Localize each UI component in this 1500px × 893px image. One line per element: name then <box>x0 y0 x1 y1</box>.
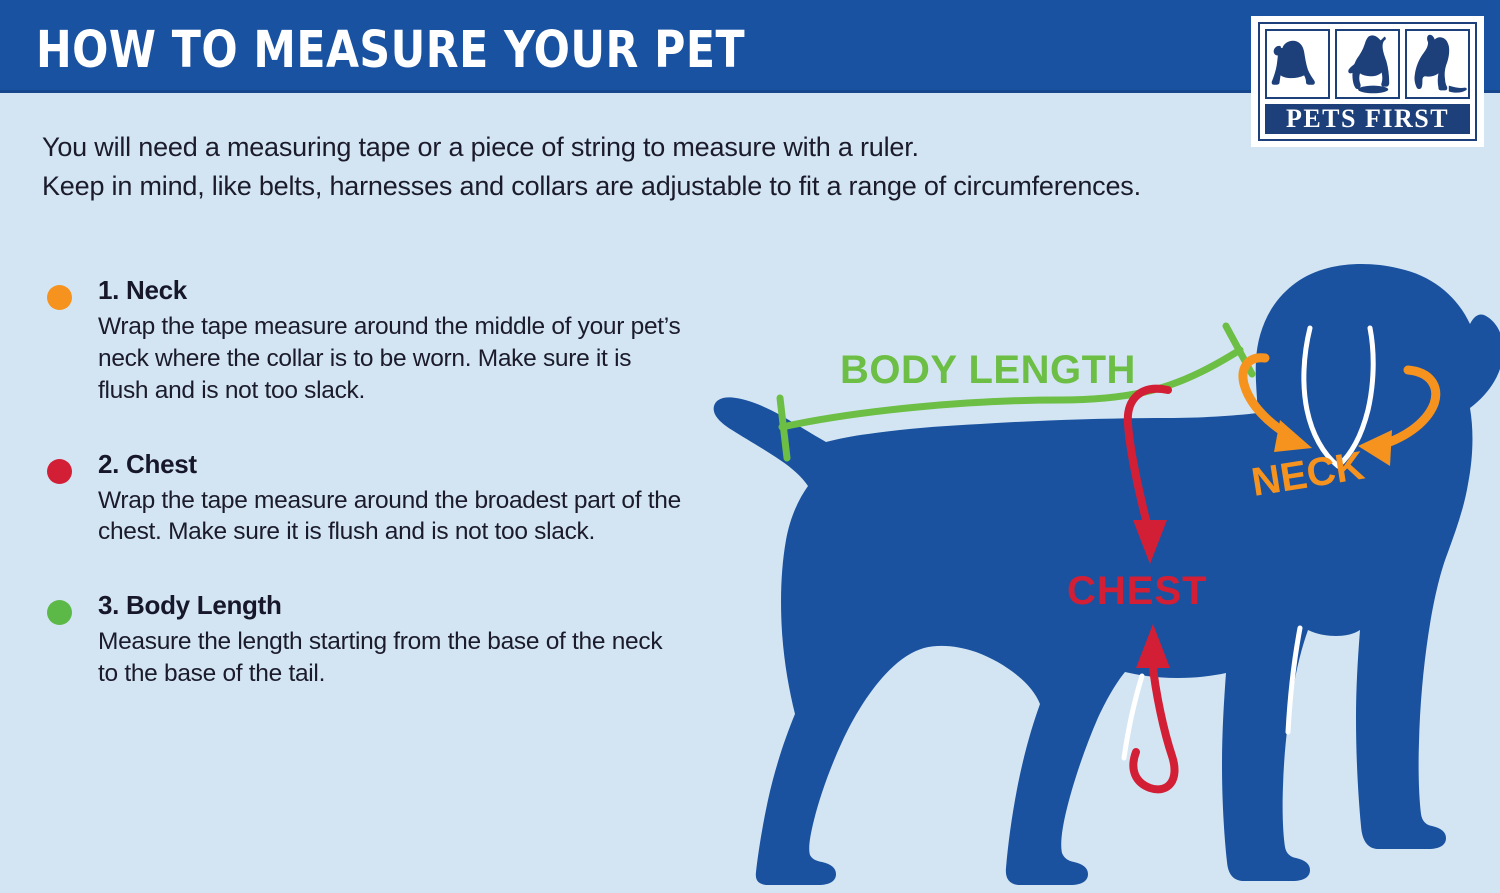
intro-line-1: You will need a measuring tape or a piec… <box>42 128 1332 167</box>
step-body: Wrap the tape measure around the broades… <box>98 485 682 549</box>
bullet-dot-icon <box>47 600 72 625</box>
page-title: HOW TO MEASURE YOUR PET <box>36 21 745 80</box>
measurement-steps: 1. Neck Wrap the tape measure around the… <box>42 275 682 690</box>
dog-measurement-diagram: BODY LENGTH NECK CHEST <box>640 228 1500 893</box>
logo-dog-panels <box>1265 29 1470 99</box>
body-length-label: BODY LENGTH <box>840 348 1136 392</box>
step-body: Wrap the tape measure around the middle … <box>98 311 682 407</box>
dog-sitting-howling-icon <box>1335 29 1400 99</box>
intro-line-2: Keep in mind, like belts, harnesses and … <box>42 167 1332 206</box>
logo-frame: PETS FIRST <box>1258 22 1477 141</box>
intro-text: You will need a measuring tape or a piec… <box>42 128 1332 206</box>
step-neck: 1. Neck Wrap the tape measure around the… <box>42 275 682 407</box>
step-body: Measure the length starting from the bas… <box>98 626 682 690</box>
bullet-dot-icon <box>47 285 72 310</box>
step-body-length: 3. Body Length Measure the length starti… <box>42 590 682 690</box>
infographic-page: HOW TO MEASURE YOUR PET <box>0 0 1500 893</box>
dog-sitting-icon <box>1405 29 1470 99</box>
rear-leg-separation <box>1124 676 1142 758</box>
step-title: 1. Neck <box>98 275 682 306</box>
step-chest: 2. Chest Wrap the tape measure around th… <box>42 449 682 549</box>
dog-lying-icon <box>1265 29 1330 99</box>
step-title: 2. Chest <box>98 449 682 480</box>
bullet-dot-icon <box>47 459 72 484</box>
chest-label: CHEST <box>1067 569 1208 613</box>
step-title: 3. Body Length <box>98 590 682 621</box>
